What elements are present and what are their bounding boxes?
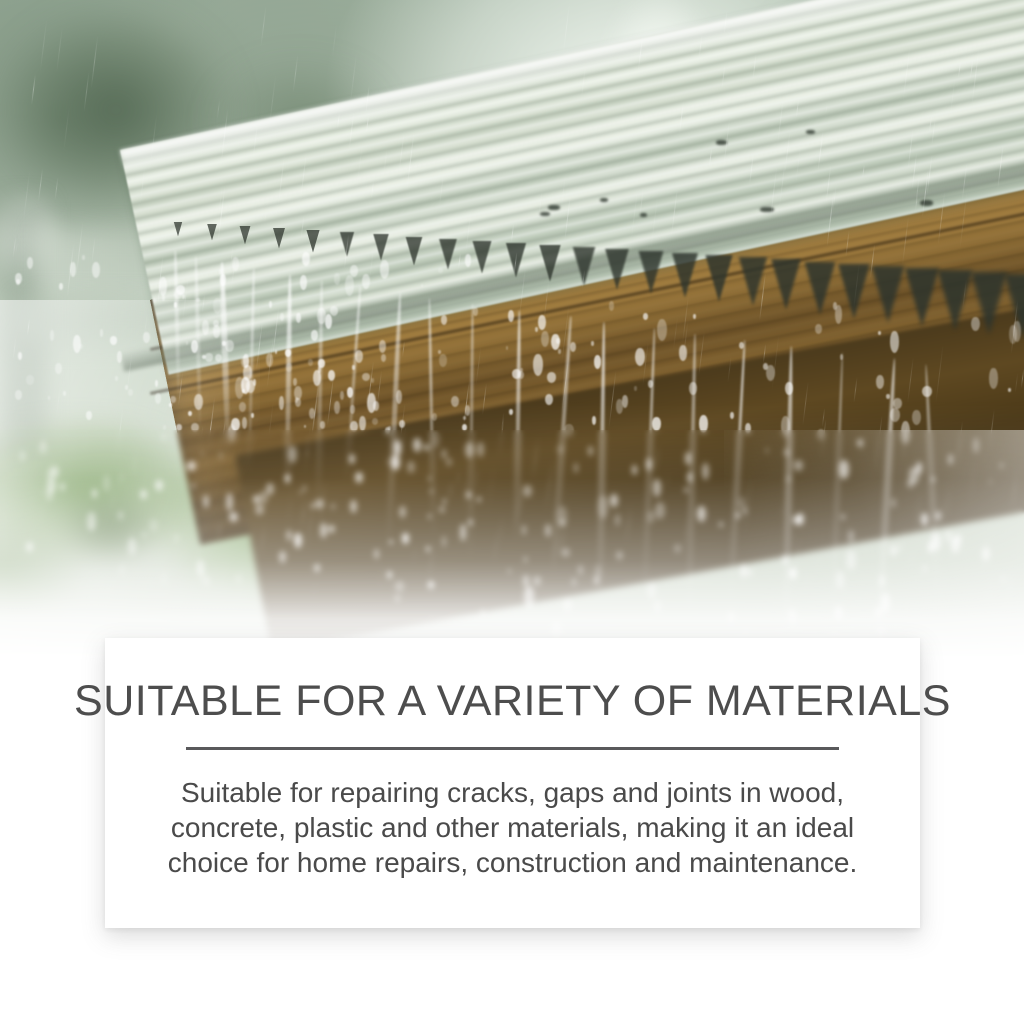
rain-streak [150,114,157,167]
water-spray-droplet [840,354,843,360]
rain-streak [908,129,914,170]
rain-streak [970,60,973,79]
rain-streak [723,10,727,36]
water-spray-droplet [533,354,543,376]
rain-streak [63,107,69,151]
water-spray-droplet [739,342,744,349]
rain-streak [777,97,784,145]
rain-streak [671,186,678,237]
water-spray-droplet [27,257,33,269]
rain-streak [406,131,414,190]
rain-streak [763,344,766,363]
rain-streak [771,333,779,391]
rain-streak [91,35,99,89]
rain-streak [538,190,542,216]
rain-streak [673,317,678,350]
rain-streak [915,176,920,205]
water-droplet [594,355,601,369]
rain-streak [260,5,266,47]
rain-streak [365,85,370,114]
rain-streak [31,74,36,105]
rain-streak [907,357,914,403]
rain-streak [959,191,967,249]
rain-streak [514,252,518,274]
water-spray-droplet [308,359,313,366]
water-spray-droplet [92,262,100,278]
water-spray-droplet [506,346,508,350]
rain-streak [91,236,95,263]
rain-streak [519,267,526,316]
rain-streak [564,195,571,242]
water-spray-droplet [547,372,556,383]
water-spray-droplet [220,274,226,286]
rain-streak [727,356,731,383]
water-spray-droplet [381,354,386,362]
feature-card: SUITABLE FOR A VARIETY OF MATERIALS Suit… [105,638,920,928]
water-spray-droplet [379,340,386,353]
rain-streak [870,244,875,278]
water-spray-droplet [643,313,648,320]
rain-streak [770,165,778,222]
water-spray-droplet [520,368,523,372]
water-spray-droplet [535,327,538,332]
rain-streak [749,152,754,186]
rain-streak [698,34,702,59]
rain-streak [293,54,299,93]
rain-streak [826,165,832,203]
rain-streak [752,53,756,81]
roof-rain-photo [0,0,1024,660]
water-spray-droplet [634,386,637,391]
rain-streak [253,120,259,159]
rain-streak [356,142,363,192]
water-droplet [296,313,301,323]
rain-streak [581,65,586,99]
rain-streak [371,181,374,198]
rain-streak [912,152,918,189]
rain-streak [337,113,340,128]
rain-streak [639,186,644,220]
water-spray-droplet [300,275,307,290]
rain-streak [651,193,659,249]
water-spray-droplet [508,310,514,322]
water-spray-droplet [657,319,667,341]
water-spray-droplet [465,254,471,267]
water-spray-droplet [693,314,696,319]
rain-streak [631,187,639,241]
water-droplet [591,341,594,346]
water-spray-droplet [890,331,899,353]
water-droplet [551,334,560,350]
rain-streak [544,280,550,320]
water-spray-droplet [330,306,338,316]
rain-streak [269,74,277,128]
water-spray-droplet [473,307,478,316]
water-droplet [285,349,291,357]
rain-streak [582,270,585,288]
rain-streak [465,207,472,255]
rain-streak [15,241,18,255]
water-spray-droplet [421,284,423,287]
rain-streak [862,164,865,178]
rain-streak [300,150,307,202]
water-droplet [558,349,561,354]
rain-streak [221,108,229,164]
water-spray-droplet [269,301,272,308]
rain-streak [938,191,946,245]
rain-streak [439,171,445,209]
rain-streak [902,216,909,265]
rain-streak [827,190,835,247]
water-spray-droplet [345,275,354,296]
water-droplet [311,330,318,341]
rain-streak [929,115,932,133]
rain-streak [1015,373,1018,393]
photo-fade-bottom [0,400,1024,660]
rain-streak [332,24,337,58]
water-droplet [570,342,576,352]
water-spray-droplet [302,252,310,266]
rain-streak [638,35,643,71]
title-divider [186,747,839,750]
rain-streak [511,224,514,242]
rain-streak [997,144,1003,189]
rain-streak [56,26,63,73]
rain-streak [903,47,911,101]
water-spray-droplet [174,290,182,299]
rain-streak [217,99,220,119]
rain-streak [368,240,375,289]
rain-streak [561,172,567,209]
water-spray-droplet [1008,388,1011,392]
rain-streak [350,52,357,104]
rain-streak [825,101,828,116]
rain-streak [383,148,387,174]
water-spray-droplet [989,368,998,389]
rain-streak [721,63,725,89]
rain-streak [931,118,935,146]
rain-streak [935,344,943,403]
rain-streak [845,230,849,257]
water-droplet [325,314,332,329]
rain-streak [398,132,404,174]
rain-streak [23,170,30,223]
water-spray-droplet [334,273,340,285]
water-droplet [355,350,363,363]
water-spray-droplet [340,391,344,400]
water-droplet [280,313,284,321]
water-spray-droplet [82,255,85,260]
rain-streak [301,215,305,239]
water-spray-droplet [833,302,837,310]
rain-streak [709,148,712,167]
rain-streak [853,260,860,312]
rain-streak [958,61,961,78]
rain-streak [476,345,482,386]
water-droplet [876,375,884,389]
water-spray-droplet [441,315,447,325]
water-droplet [922,386,932,397]
water-spray-droplet [971,317,980,331]
rain-streak [698,331,705,377]
water-spray-droplet [275,350,277,354]
rain-streak [349,111,355,151]
rain-streak [759,273,766,321]
water-spray-droplet [609,301,614,311]
water-droplet [362,373,370,381]
rain-streak [949,76,955,120]
rain-streak [795,140,801,185]
feature-card-title: SUITABLE FOR A VARIETY OF MATERIALS [74,680,951,723]
rain-streak [55,177,59,200]
water-spray-droplet [15,273,22,284]
rain-streak [344,234,349,269]
water-droplet [317,308,326,324]
rain-streak [264,208,267,225]
feature-card-description: Suitable for repairing cracks, gaps and … [143,775,883,880]
water-droplet [648,380,653,388]
rain-streak [796,99,799,118]
rain-streak [962,279,967,310]
rain-streak [76,221,84,278]
rain-streak [723,116,731,172]
water-spray-droplet [59,283,63,290]
rain-streak [38,168,43,202]
rain-streak [563,1,570,54]
water-spray-droplet [689,382,697,395]
water-spray-droplet [380,260,389,279]
rain-streak [402,341,405,357]
water-spray-droplet [815,324,822,334]
water-spray-droplet [286,363,292,372]
water-spray-droplet [785,382,793,395]
rain-streak [679,101,684,134]
water-spray-droplet [438,268,443,273]
rain-streak [40,19,47,72]
rain-streak [278,153,285,206]
rain-streak [458,253,461,269]
water-spray-droplet [886,394,890,399]
rain-streak [83,71,89,113]
water-spray-droplet [635,348,645,366]
water-spray-droplet [439,354,447,367]
rain-streak [784,128,791,175]
rain-streak [817,130,823,172]
water-spray-droplet [878,331,881,335]
rain-streak [971,46,979,106]
rain-streak [140,165,146,206]
water-spray-droplet [541,331,549,347]
rain-streak [366,115,369,133]
product-feature-banner: SUITABLE FOR A VARIETY OF MATERIALS Suit… [0,0,1024,1024]
